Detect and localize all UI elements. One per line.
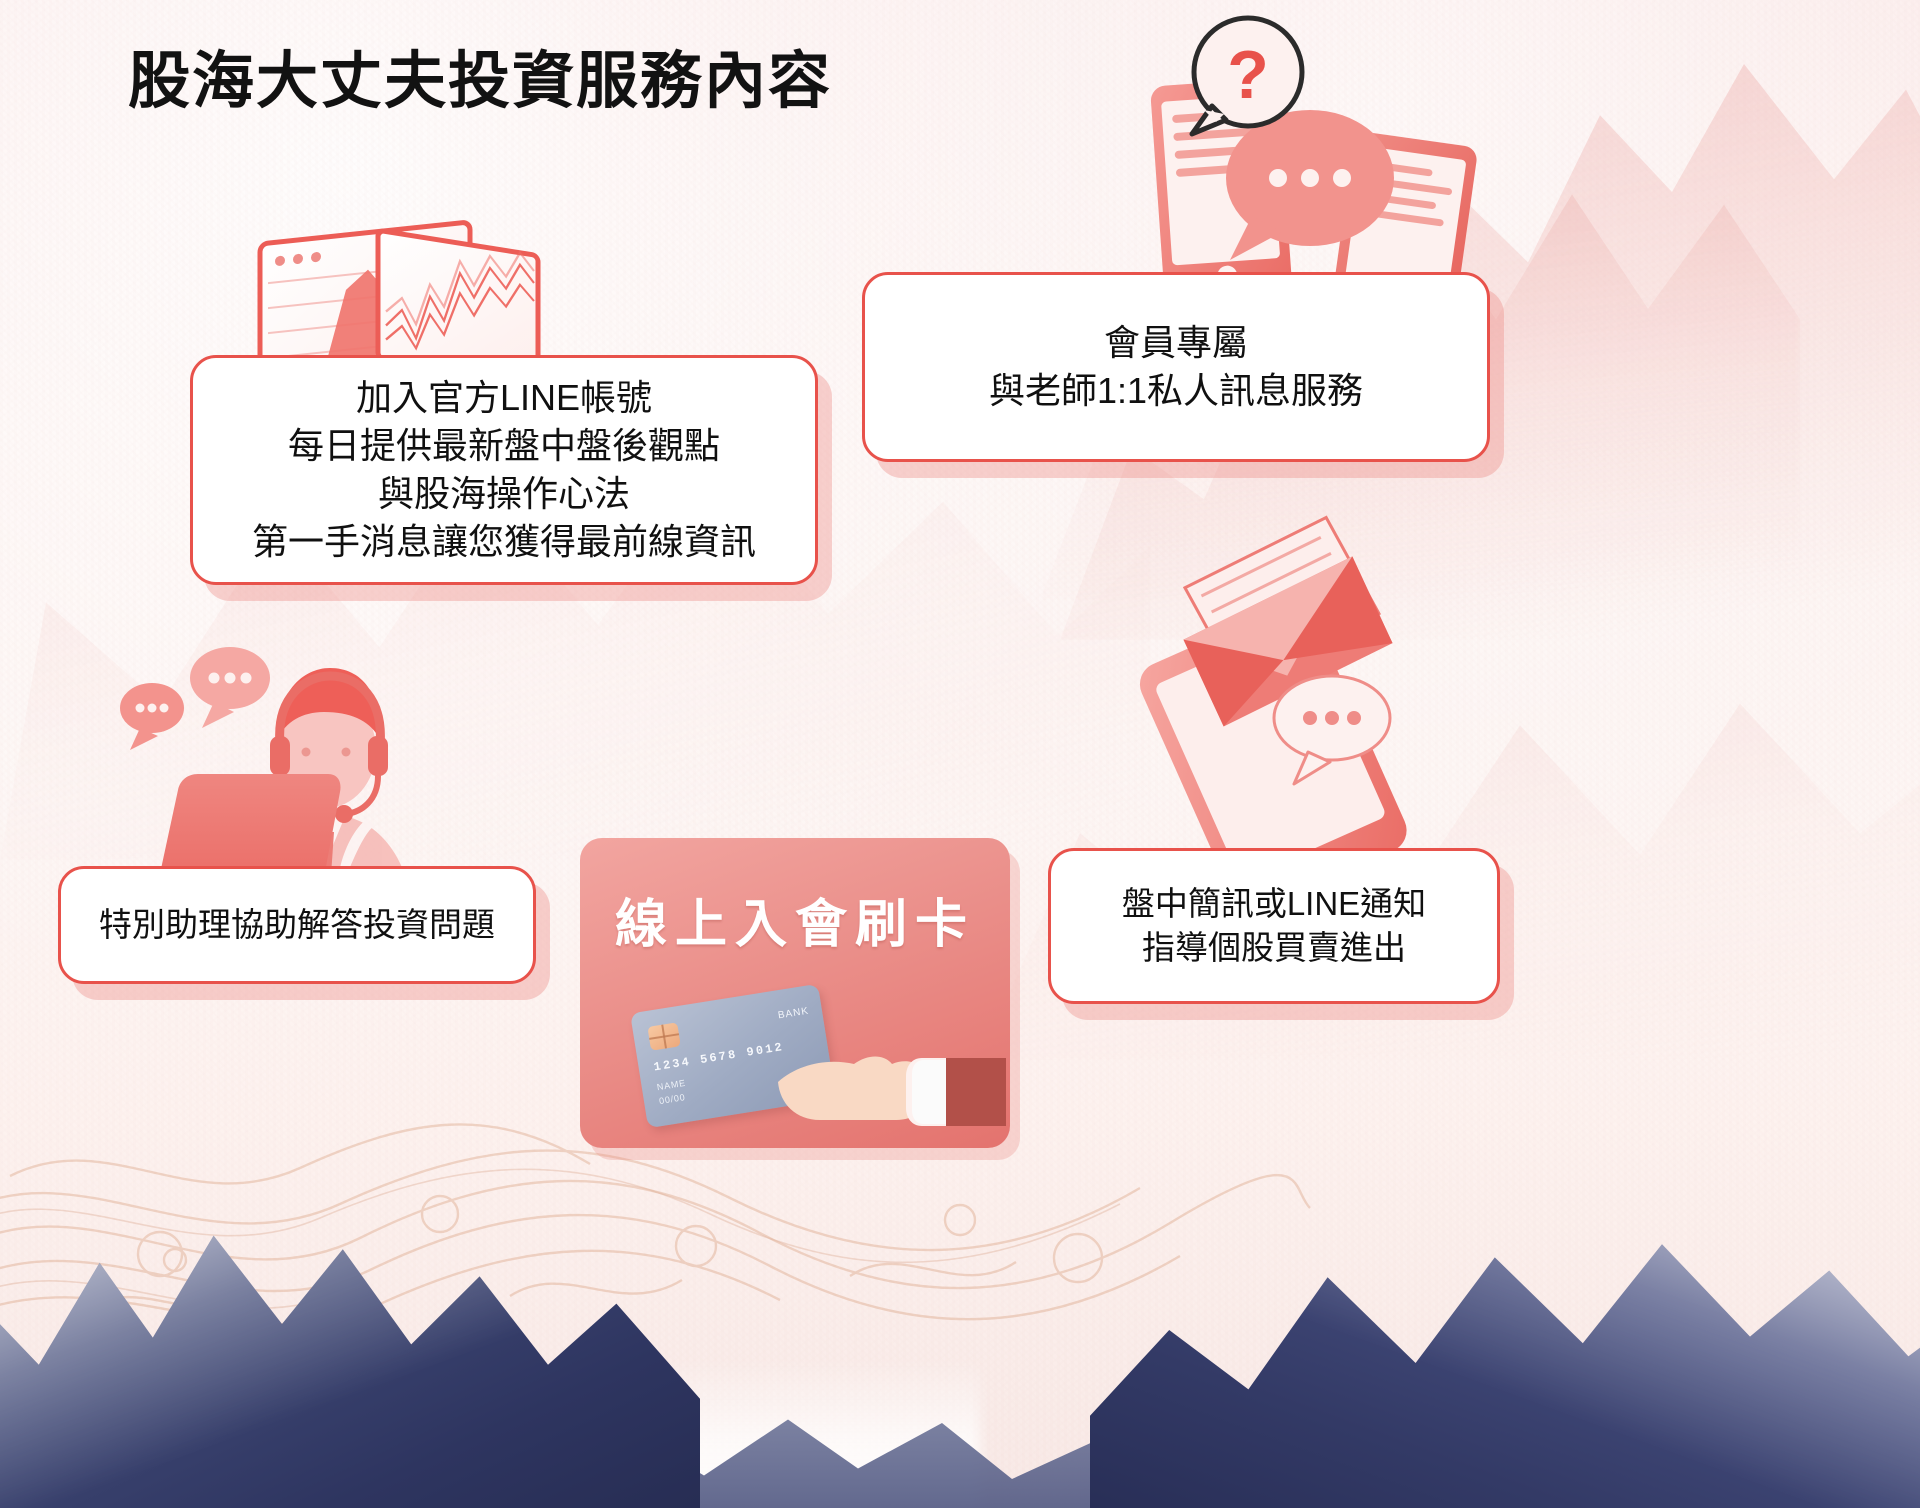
line-account-card[interactable]: 加入官方LINE帳號 每日提供最新盤中盤後觀點 與股海操作心法 第一手消息讓您獲…: [190, 355, 818, 585]
member-exclusive-card-text: 會員專屬 與老師1:1私人訊息服務: [989, 319, 1363, 415]
intraday-notification-card[interactable]: 盤中簡訊或LINE通知 指導個股買賣進出: [1048, 848, 1500, 1004]
credit-card-bank-label: BANK: [777, 1006, 810, 1022]
page-title: 股海大丈夫投資服務內容: [128, 48, 832, 116]
online-membership-payment[interactable]: 線上入會刷卡 BANK 1234 5678 9012 NAME 00/00: [580, 838, 1010, 1148]
member-exclusive-card[interactable]: 會員專屬 與老師1:1私人訊息服務: [862, 272, 1490, 462]
assistant-card[interactable]: 特別助理協助解答投資問題: [58, 866, 536, 984]
line-account-card-text: 加入官方LINE帳號 每日提供最新盤中盤後觀點 與股海操作心法 第一手消息讓您獲…: [252, 374, 756, 567]
assistant-card-text: 特別助理協助解答投資問題: [99, 903, 495, 947]
hand-icon: [776, 1024, 1006, 1134]
credit-card-name-label: NAME: [656, 1078, 686, 1092]
chat-bubble-icon: [190, 647, 270, 728]
intraday-notification-card-text: 盤中簡訊或LINE通知 指導個股買賣進出: [1122, 882, 1426, 970]
chip-icon: [647, 1022, 680, 1050]
svg-text:?: ?: [1227, 37, 1269, 113]
credit-card-expiry: 00/00: [658, 1092, 686, 1106]
chat-bubble-icon: [120, 683, 184, 750]
envelope-phone-icon: [1080, 520, 1460, 880]
payment-panel-title: 線上入會刷卡: [580, 882, 1010, 957]
